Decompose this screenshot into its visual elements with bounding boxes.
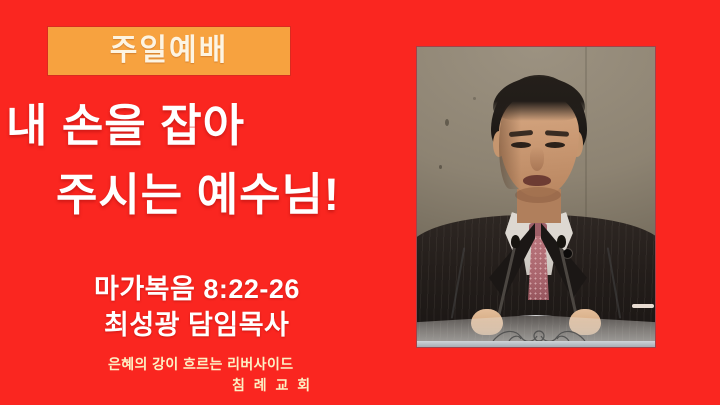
- speaker-name: 최성광 담임목사: [104, 312, 289, 339]
- eye-right: [545, 142, 565, 148]
- nose: [530, 147, 544, 171]
- microphone-head-right: [557, 235, 566, 248]
- eye-left: [511, 142, 531, 148]
- church-name-line-2: 침 례 교 회: [232, 378, 313, 392]
- teeth: [632, 304, 654, 308]
- sermon-title-line-2: 주시는 예수님!: [56, 172, 340, 217]
- mouth: [523, 175, 551, 186]
- speaker-photo: [417, 47, 655, 347]
- service-type-badge-label: 주일예배: [110, 36, 228, 66]
- microphone-head-left: [511, 235, 520, 248]
- scripture-reference: 마가복음 8:22-26: [94, 276, 300, 303]
- photo-subject: [417, 47, 655, 347]
- chin-shadow: [515, 187, 561, 203]
- church-name-line-1: 은혜의 강이 흐르는 리버사이드: [108, 357, 294, 371]
- sermon-title-line-1: 내 손을 잡아: [6, 103, 245, 148]
- sermon-title-slide: 주일예배 내 손을 잡아 주시는 예수님! 마가복음 8:22-26 최성광 담…: [0, 0, 720, 405]
- podium-base-edge: [417, 341, 655, 347]
- service-type-badge: 주일예배: [48, 27, 290, 75]
- hair-front: [493, 77, 585, 121]
